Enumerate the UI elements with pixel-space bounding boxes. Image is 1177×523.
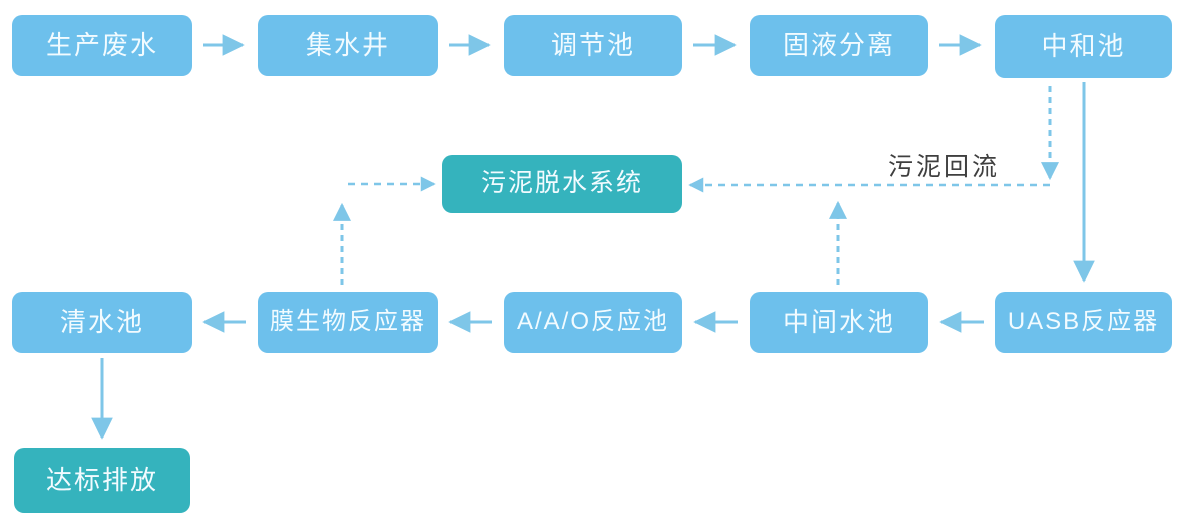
node-neutralization-tank[interactable]: 中和池: [995, 15, 1172, 78]
node-regulating-tank[interactable]: 调节池: [504, 15, 682, 76]
node-aao-reactor[interactable]: A/A/O反应池: [504, 292, 682, 353]
node-compliant-discharge[interactable]: 达标排放: [14, 448, 190, 513]
node-production-wastewater[interactable]: 生产废水: [12, 15, 192, 76]
node-intermediate-tank[interactable]: 中间水池: [750, 292, 928, 353]
node-label: 中和池: [1041, 32, 1125, 61]
node-solid-liquid-separation[interactable]: 固液分离: [750, 15, 928, 76]
node-label: 中间水池: [783, 308, 895, 337]
node-label: 膜生物反应器: [270, 309, 426, 335]
node-label: A/A/O反应池: [517, 309, 669, 335]
node-sludge-dewatering[interactable]: 污泥脱水系统: [442, 155, 682, 213]
flowchart-edges-layer: [0, 0, 1177, 523]
node-label: 达标排放: [46, 466, 158, 495]
node-membrane-bioreactor[interactable]: 膜生物反应器: [258, 292, 438, 353]
node-label: 清水池: [60, 308, 144, 337]
node-label: 生产废水: [46, 31, 158, 60]
node-clear-water-tank[interactable]: 清水池: [12, 292, 192, 353]
node-label: 固液分离: [783, 31, 895, 60]
node-label: 污泥脱水系统: [481, 170, 643, 198]
node-collection-well[interactable]: 集水井: [258, 15, 438, 76]
node-label: 集水井: [306, 31, 390, 60]
edge-mbr-sludge-return: [342, 184, 434, 285]
node-label: 调节池: [551, 31, 635, 60]
flowchart-canvas: 生产废水 集水井 调节池 固液分离 中和池 污泥脱水系统 清水池 膜生物反应器 …: [0, 0, 1177, 523]
edge-label-sludge-return: 污泥回流: [888, 147, 1000, 183]
node-uasb-reactor[interactable]: UASB反应器: [995, 292, 1172, 353]
node-label: UASB反应器: [1008, 309, 1159, 335]
